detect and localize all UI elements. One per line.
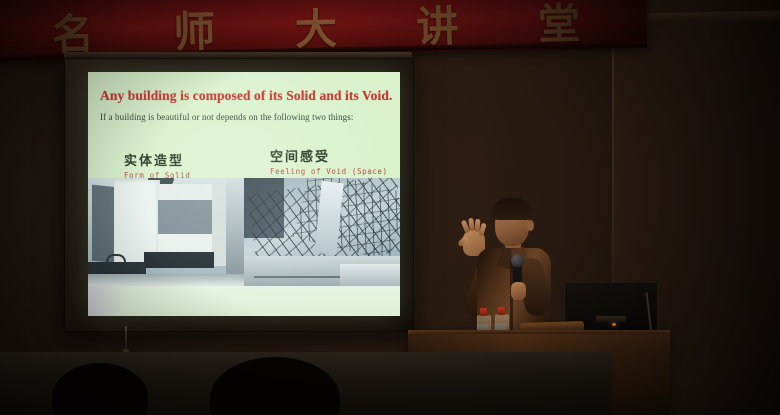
photo-solid-building: [88, 178, 244, 286]
photo-volume-c: [158, 200, 214, 236]
bottle-label: [495, 323, 507, 330]
photo-ground: [88, 274, 244, 286]
slide-bottom-tint: [88, 286, 128, 316]
laptop-hinge: [596, 316, 626, 323]
lecture-hall-photo: 名 师 大 讲 堂 Any building is composed of it…: [0, 0, 780, 415]
speaker-mic-hand: [511, 282, 526, 300]
photo-sculpture: [106, 254, 126, 272]
slide-photo-row: [88, 178, 400, 286]
column-label-solid: 实体造型 Form of Solid: [124, 150, 191, 180]
audience-head-right: [210, 357, 340, 415]
speaker-ear: [527, 220, 534, 231]
slide-subtitle: If a building is beautiful or not depend…: [100, 112, 392, 122]
stage-front: [0, 352, 612, 415]
photo-right-mass: [226, 178, 244, 286]
audience-head-left: [52, 363, 148, 415]
solid-label-cn: 实体造型: [124, 150, 191, 169]
microphone-head-icon: [511, 254, 524, 267]
photo-shadow-band: [144, 252, 214, 268]
laptop-power-led-icon: [612, 323, 616, 326]
void-label-en: Feeling of Void (Space): [270, 167, 388, 176]
slide-title: Any building is composed of its Solid an…: [100, 88, 392, 104]
pyramid-step: [340, 264, 400, 286]
bottle-cap: [498, 307, 505, 315]
projected-slide: Any building is composed of its Solid an…: [88, 72, 400, 316]
slide-bottom-margin: [88, 286, 400, 316]
bottle-cap: [480, 308, 487, 316]
column-label-void: 空间感受 Feeling of Void (Space): [270, 146, 388, 176]
speaker-hair: [492, 198, 532, 220]
photo-void-pyramid: [244, 178, 400, 286]
void-label-cn: 空间感受: [270, 146, 388, 165]
